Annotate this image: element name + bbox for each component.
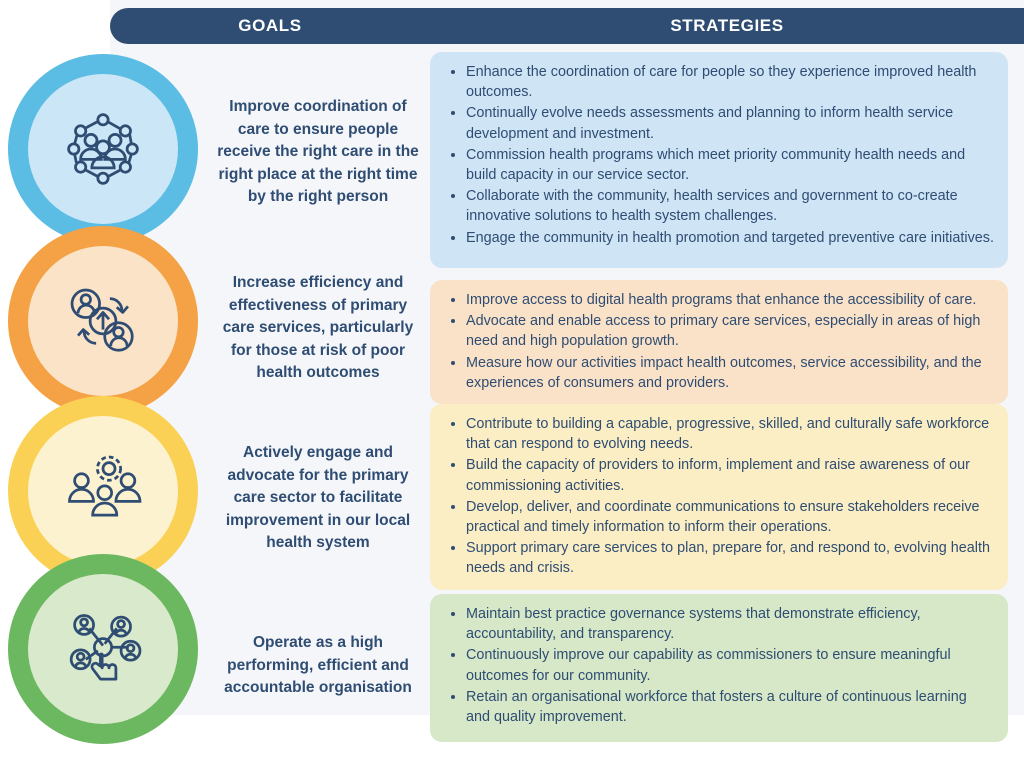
strategy-item: Advocate and enable access to primary ca… (440, 311, 994, 351)
strategy-list-2: Improve access to digital health program… (440, 290, 994, 393)
strategy-list-3: Contribute to building a capable, progre… (440, 414, 994, 579)
goal-circle-4 (8, 554, 198, 744)
people-gear-icon (60, 448, 146, 534)
goal-text-4: Operate as a high performing, efficient … (212, 632, 424, 700)
strategy-item: Retain an organisational workforce that … (440, 687, 994, 727)
strategy-panel-1: Enhance the coordination of care for peo… (430, 52, 1008, 268)
goal-text-1: Improve coordination of care to ensure p… (212, 96, 424, 209)
strategy-panel-3: Contribute to building a capable, progre… (430, 404, 1008, 590)
strategy-item: Commission health programs which meet pr… (440, 145, 994, 185)
people-network-icon (60, 106, 146, 192)
strategy-item: Maintain best practice governance system… (440, 604, 994, 644)
header-goals-label: GOALS (110, 16, 430, 36)
strategy-item: Contribute to building a capable, progre… (440, 414, 994, 454)
strategy-item: Improve access to digital health program… (440, 290, 994, 310)
strategy-item: Continually evolve needs assessments and… (440, 103, 994, 143)
network-hand-pointer-icon (60, 606, 146, 692)
strategy-item: Measure how our activities impact health… (440, 353, 994, 393)
strategy-panel-4: Maintain best practice governance system… (430, 594, 1008, 742)
strategy-item: Continuously improve our capability as c… (440, 645, 994, 685)
header-bar: GOALS STRATEGIES (110, 8, 1024, 44)
goal-circle-1 (8, 54, 198, 244)
strategy-list-4: Maintain best practice governance system… (440, 604, 994, 727)
strategy-list-1: Enhance the coordination of care for peo… (440, 62, 994, 248)
goal-text-3: Actively engage and advocate for the pri… (212, 442, 424, 555)
goal-circle-2 (8, 226, 198, 416)
strategy-item: Support primary care services to plan, p… (440, 538, 994, 578)
strategy-item: Develop, deliver, and coordinate communi… (440, 497, 994, 537)
strategy-item: Build the capacity of providers to infor… (440, 455, 994, 495)
goals-strategies-infographic: GOALS STRATEGIES (0, 0, 1024, 759)
strategy-item: Collaborate with the community, health s… (440, 186, 994, 226)
header-strategies-label: STRATEGIES (430, 16, 1024, 36)
strategy-panel-2: Improve access to digital health program… (430, 280, 1008, 404)
board: Improve coordination of care to ensure p… (0, 44, 1024, 759)
people-improvement-cycle-icon (60, 278, 146, 364)
goal-text-2: Increase efficiency and effectiveness of… (212, 272, 424, 385)
strategy-item: Engage the community in health promotion… (440, 228, 994, 248)
strategy-item: Enhance the coordination of care for peo… (440, 62, 994, 102)
